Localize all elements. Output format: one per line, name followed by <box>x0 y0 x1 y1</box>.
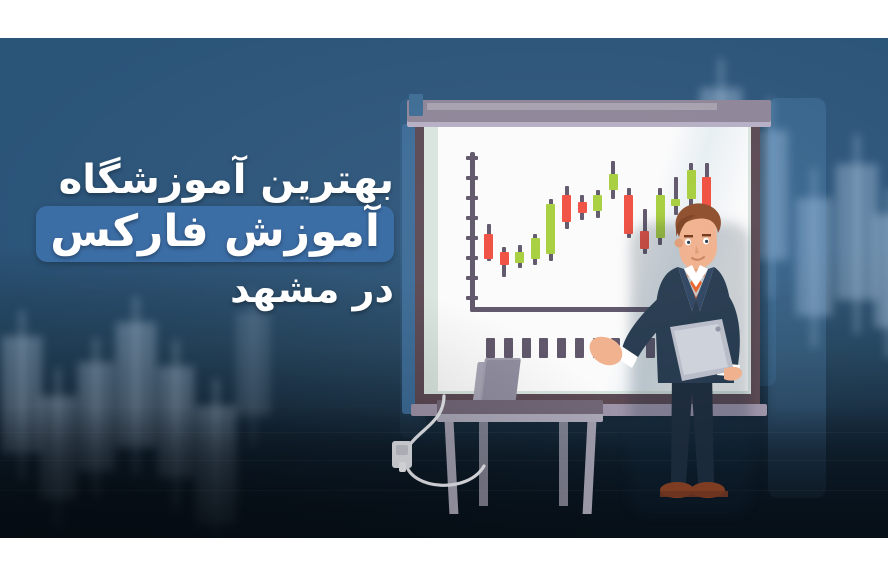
headline-line-3: در مشهد <box>0 270 420 308</box>
headline-block: بهترین آموزشگاه آموزش فارکس در مشهد <box>0 160 420 308</box>
letterbox-bottom <box>0 538 888 573</box>
headline-line-2: آموزش فارکس <box>50 206 380 257</box>
headline-highlight-box: آموزش فارکس <box>36 206 394 262</box>
forex-course-banner: بهترین آموزشگاه آموزش فارکس در مشهد <box>0 0 888 573</box>
letterbox-top <box>0 0 888 38</box>
headline-line-1: بهترین آموزشگاه <box>0 160 420 200</box>
